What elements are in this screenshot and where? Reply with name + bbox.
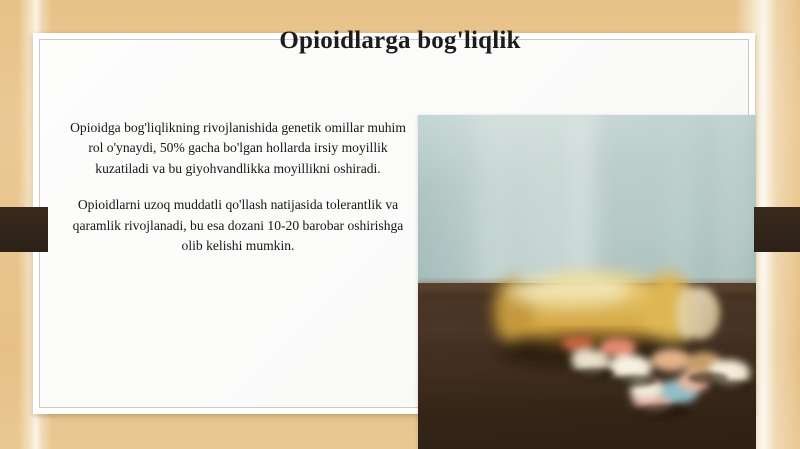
right-accent-bar	[754, 207, 800, 252]
slide-body-text: Opioidga bog'liqlikning rivojlanishida g…	[62, 118, 414, 256]
body-paragraph-2: Opioidlarni uzoq muddatli qo'llash natij…	[62, 195, 414, 256]
body-paragraph-1: Opioidga bog'liqlikning rivojlanishida g…	[62, 118, 414, 179]
pill-bottle-photo	[418, 115, 756, 449]
left-accent-bar	[0, 207, 48, 252]
slide-title: Opioidlarga bog'liqlik	[0, 27, 800, 55]
pill-bottle-illustration	[418, 115, 756, 449]
